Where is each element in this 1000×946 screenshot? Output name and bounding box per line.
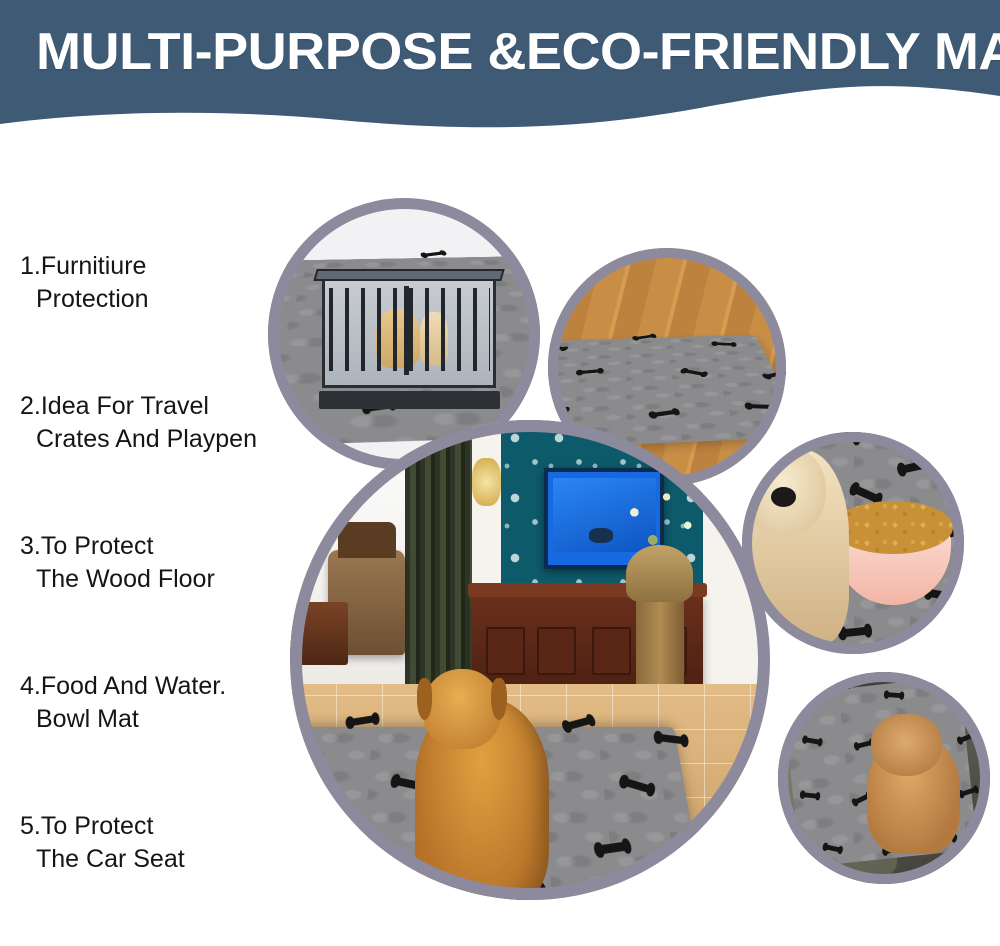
flower-arrangement (616, 478, 707, 564)
feature-item-food-water-bowl: 4.Food And Water. Bowl Mat (0, 670, 226, 736)
feature-line-2: The Car Seat (0, 843, 185, 876)
photo-bubble-food-bowl (742, 432, 964, 654)
dry-kibble (833, 501, 953, 554)
crate-top (314, 269, 506, 281)
crate-base (319, 391, 500, 409)
page-title: MULTI-PURPOSE &ECO-FRIENDLY MAT (36, 21, 1000, 83)
feature-line-1: 5.To Protect (0, 810, 185, 843)
console-drawer (486, 627, 525, 676)
console-drawer (592, 627, 631, 676)
feature-line-2: Bowl Mat (0, 703, 226, 736)
dog-head (423, 669, 501, 749)
feature-item-travel-crates: 2.Idea For Travel Crates And Playpen (0, 390, 257, 456)
photo-bubble-living-room (290, 420, 770, 900)
feature-line-1: 4.Food And Water. (0, 670, 226, 703)
feature-line-2: The Wood Floor (0, 563, 215, 596)
puppy-head (871, 714, 942, 776)
feature-item-car-seat: 5.To Protect The Car Seat (0, 810, 185, 876)
dog-nose (771, 487, 796, 507)
feature-item-furniture-protection: 1.Furnitiure Protection (0, 250, 149, 316)
feature-line-2: Protection (0, 283, 149, 316)
feature-line-2: Crates And Playpen (0, 423, 257, 456)
curtain (405, 420, 472, 708)
golden-retriever (746, 450, 848, 645)
crate-body (322, 277, 496, 389)
photo-bubble-car-seat (778, 672, 990, 884)
living-room-scene (290, 420, 770, 900)
armchair-back (338, 522, 396, 558)
car-seat-scene (778, 672, 990, 884)
table-lamp (472, 458, 501, 506)
crate-bars (329, 288, 490, 370)
dog-ear (417, 678, 433, 720)
feature-line-1: 2.Idea For Travel (0, 390, 257, 423)
dog-ear (491, 678, 507, 720)
product-infographic: MULTI-PURPOSE &ECO-FRIENDLY MAT 1.Furnit… (0, 0, 1000, 946)
dog-head (742, 446, 826, 536)
feature-item-wood-floor: 3.To Protect The Wood Floor (0, 530, 215, 596)
tv-screen-content (589, 528, 614, 543)
side-table (290, 602, 348, 664)
crate-divider (404, 286, 409, 375)
dog-crate (322, 269, 496, 405)
feature-line-1: 3.To Protect (0, 530, 215, 563)
bulldog-puppy (867, 736, 960, 855)
header-banner: MULTI-PURPOSE &ECO-FRIENDLY MAT (0, 0, 1000, 150)
console-drawer (537, 627, 576, 676)
food-bowl-scene (742, 432, 964, 654)
feature-line-1: 1.Furnitiure (0, 250, 149, 283)
golden-retriever (415, 698, 549, 900)
